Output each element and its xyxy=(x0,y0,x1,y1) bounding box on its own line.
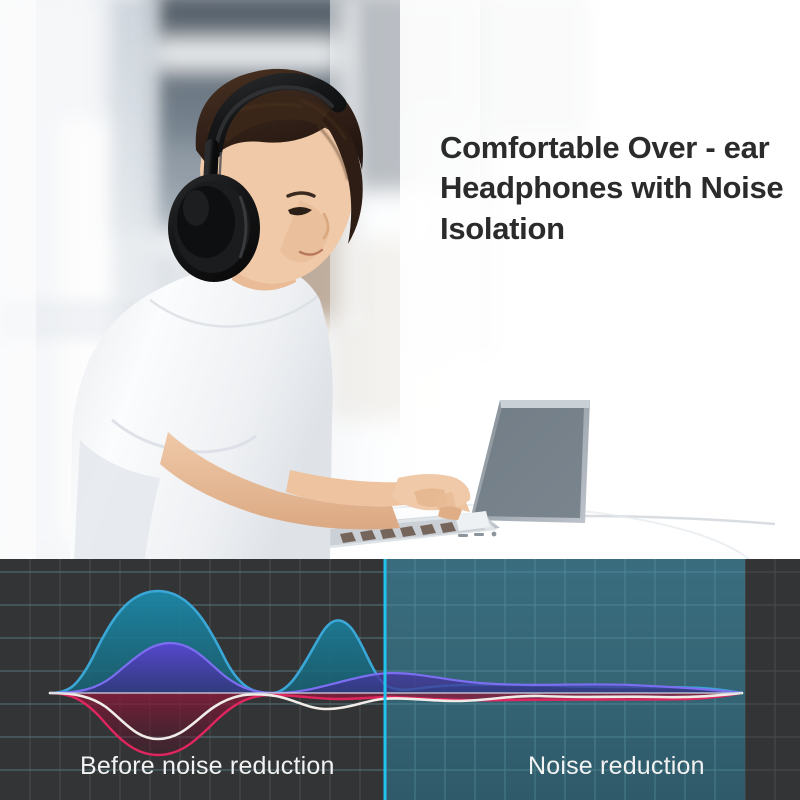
caption-before-noise-reduction: Before noise reduction xyxy=(80,752,335,781)
headline: Comfortable Over - ear Headphones with N… xyxy=(440,128,790,249)
headline-line-1: Comfortable Over - ear xyxy=(440,128,790,168)
caption-noise-reduction: Noise reduction xyxy=(528,752,705,781)
headline-line-3: Isolation xyxy=(440,209,790,249)
hero-photo-illustration xyxy=(0,0,800,559)
headline-line-2: Headphones with Noise xyxy=(440,168,790,208)
product-banner: Comfortable Over - ear Headphones with N… xyxy=(0,0,800,800)
hero-photo xyxy=(0,0,800,559)
